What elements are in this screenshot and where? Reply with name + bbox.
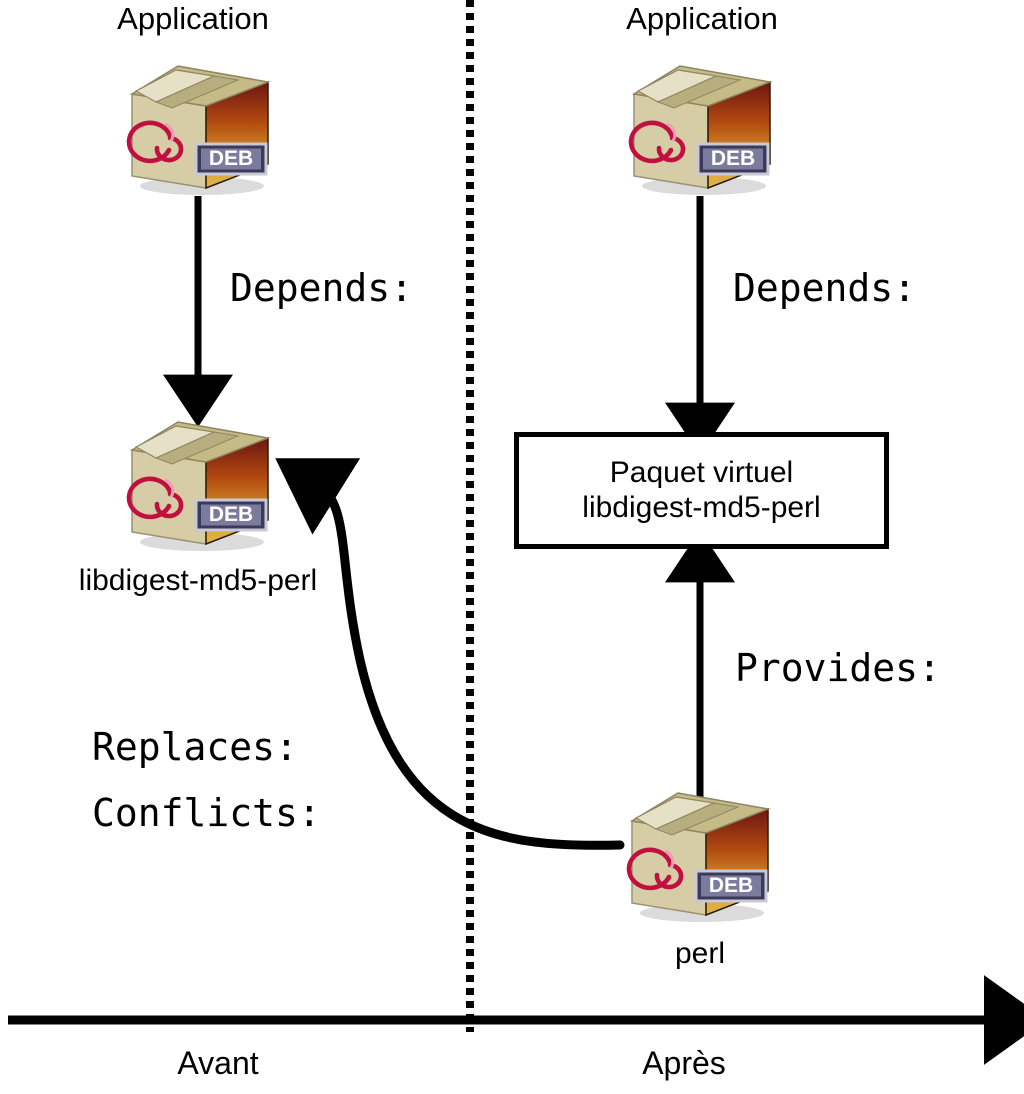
package-icon-perl: DEB	[618, 785, 784, 925]
deb-badge: DEB	[196, 500, 266, 530]
left-depends-label: Depends:	[230, 268, 413, 309]
replaces-label: Replaces:	[92, 727, 298, 768]
conflicts-label: Conflicts:	[92, 793, 321, 834]
label-libdigest-md5-perl: libdigest-md5-perl	[79, 565, 317, 597]
virtual-package-line1: Paquet virtuel	[610, 456, 793, 490]
package-icon-libdigest-md5-perl: DEB	[118, 414, 284, 554]
provides-label: Provides:	[735, 648, 941, 689]
title-left-application: Application	[117, 2, 269, 35]
virtual-package-line2: libdigest-md5-perl	[582, 491, 820, 525]
virtual-package-box: Paquet virtuel libdigest-md5-perl	[514, 432, 889, 549]
right-depends-label: Depends:	[733, 268, 916, 309]
axis-label-avant: Avant	[177, 1046, 258, 1081]
package-icon-left-application: DEB	[118, 58, 284, 198]
title-right-application: Application	[626, 2, 778, 35]
deb-badge: DEB	[698, 144, 768, 174]
svg-text:DEB: DEB	[709, 874, 753, 897]
axis-label-apres: Après	[642, 1046, 726, 1081]
deb-badge: DEB	[696, 871, 766, 901]
package-icon-right-application: DEB	[620, 58, 786, 198]
deb-badge: DEB	[196, 144, 266, 174]
svg-text:DEB: DEB	[209, 503, 253, 526]
svg-text:DEB: DEB	[209, 147, 253, 170]
svg-text:DEB: DEB	[711, 147, 755, 170]
label-perl: perl	[675, 938, 725, 970]
diagram-canvas: DEB	[0, 0, 1024, 1094]
